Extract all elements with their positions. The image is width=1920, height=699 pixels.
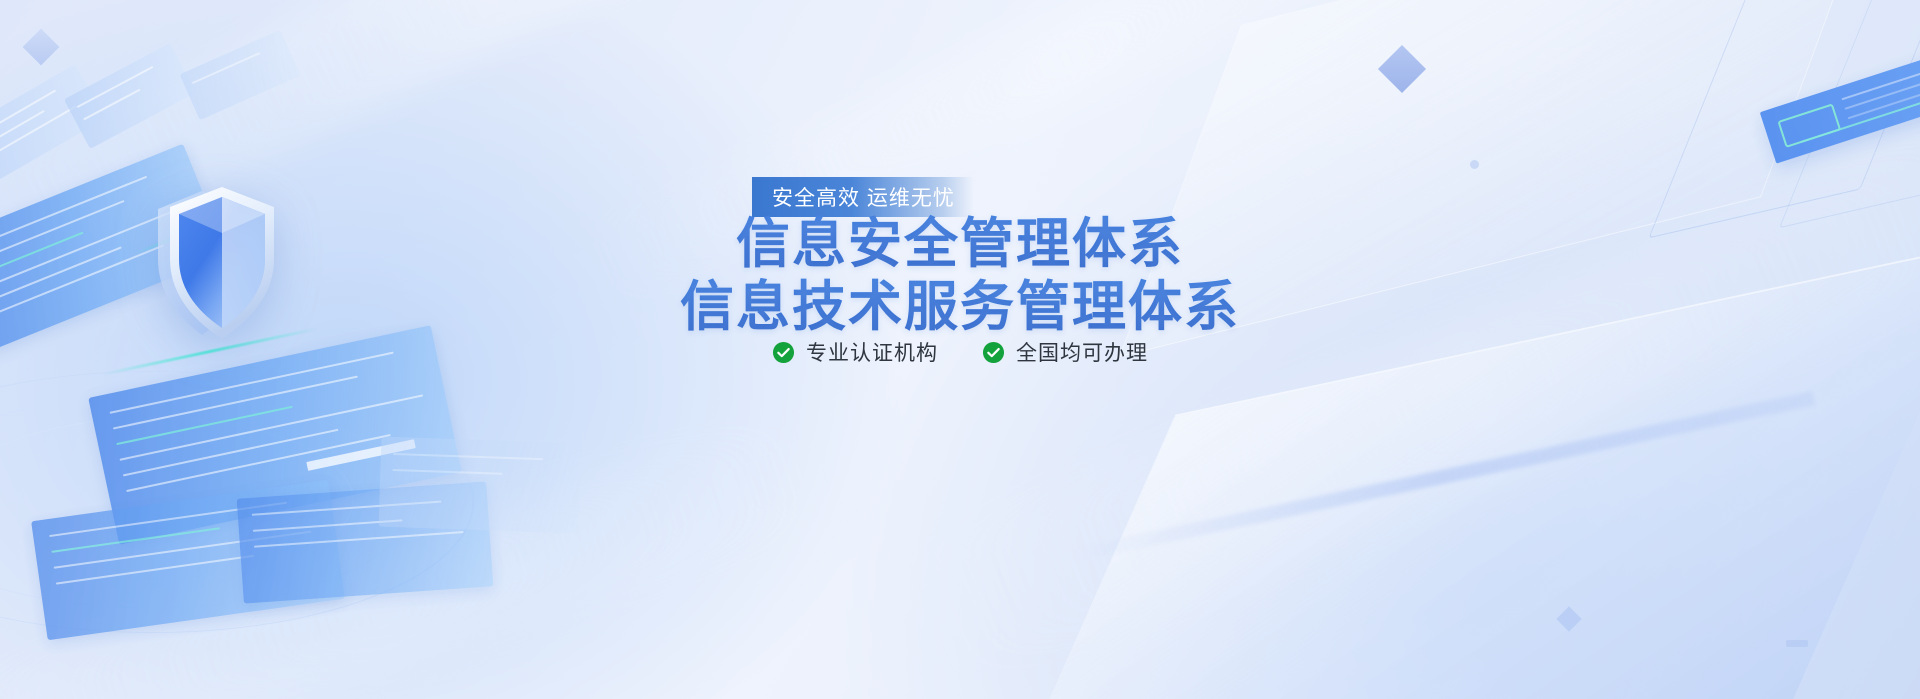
feature-item-1: 专业认证机构 [772,337,938,367]
check-circle-icon [982,341,1005,364]
check-circle-icon [772,341,795,364]
headline-line-2: 信息技术服务管理体系 [0,262,1920,341]
feature-list: 专业认证机构 全国均可办理 [0,337,1920,367]
hero-banner: 安全高效 运维无忧 信息安全管理体系 信息技术服务管理体系 专业认证机构 [0,0,1920,699]
feature-item-label: 全国均可办理 [1016,337,1148,367]
feature-item-label: 专业认证机构 [806,337,938,367]
feature-item-2: 全国均可办理 [982,337,1148,367]
hero-content: 安全高效 运维无忧 信息安全管理体系 信息技术服务管理体系 专业认证机构 [0,0,1920,699]
